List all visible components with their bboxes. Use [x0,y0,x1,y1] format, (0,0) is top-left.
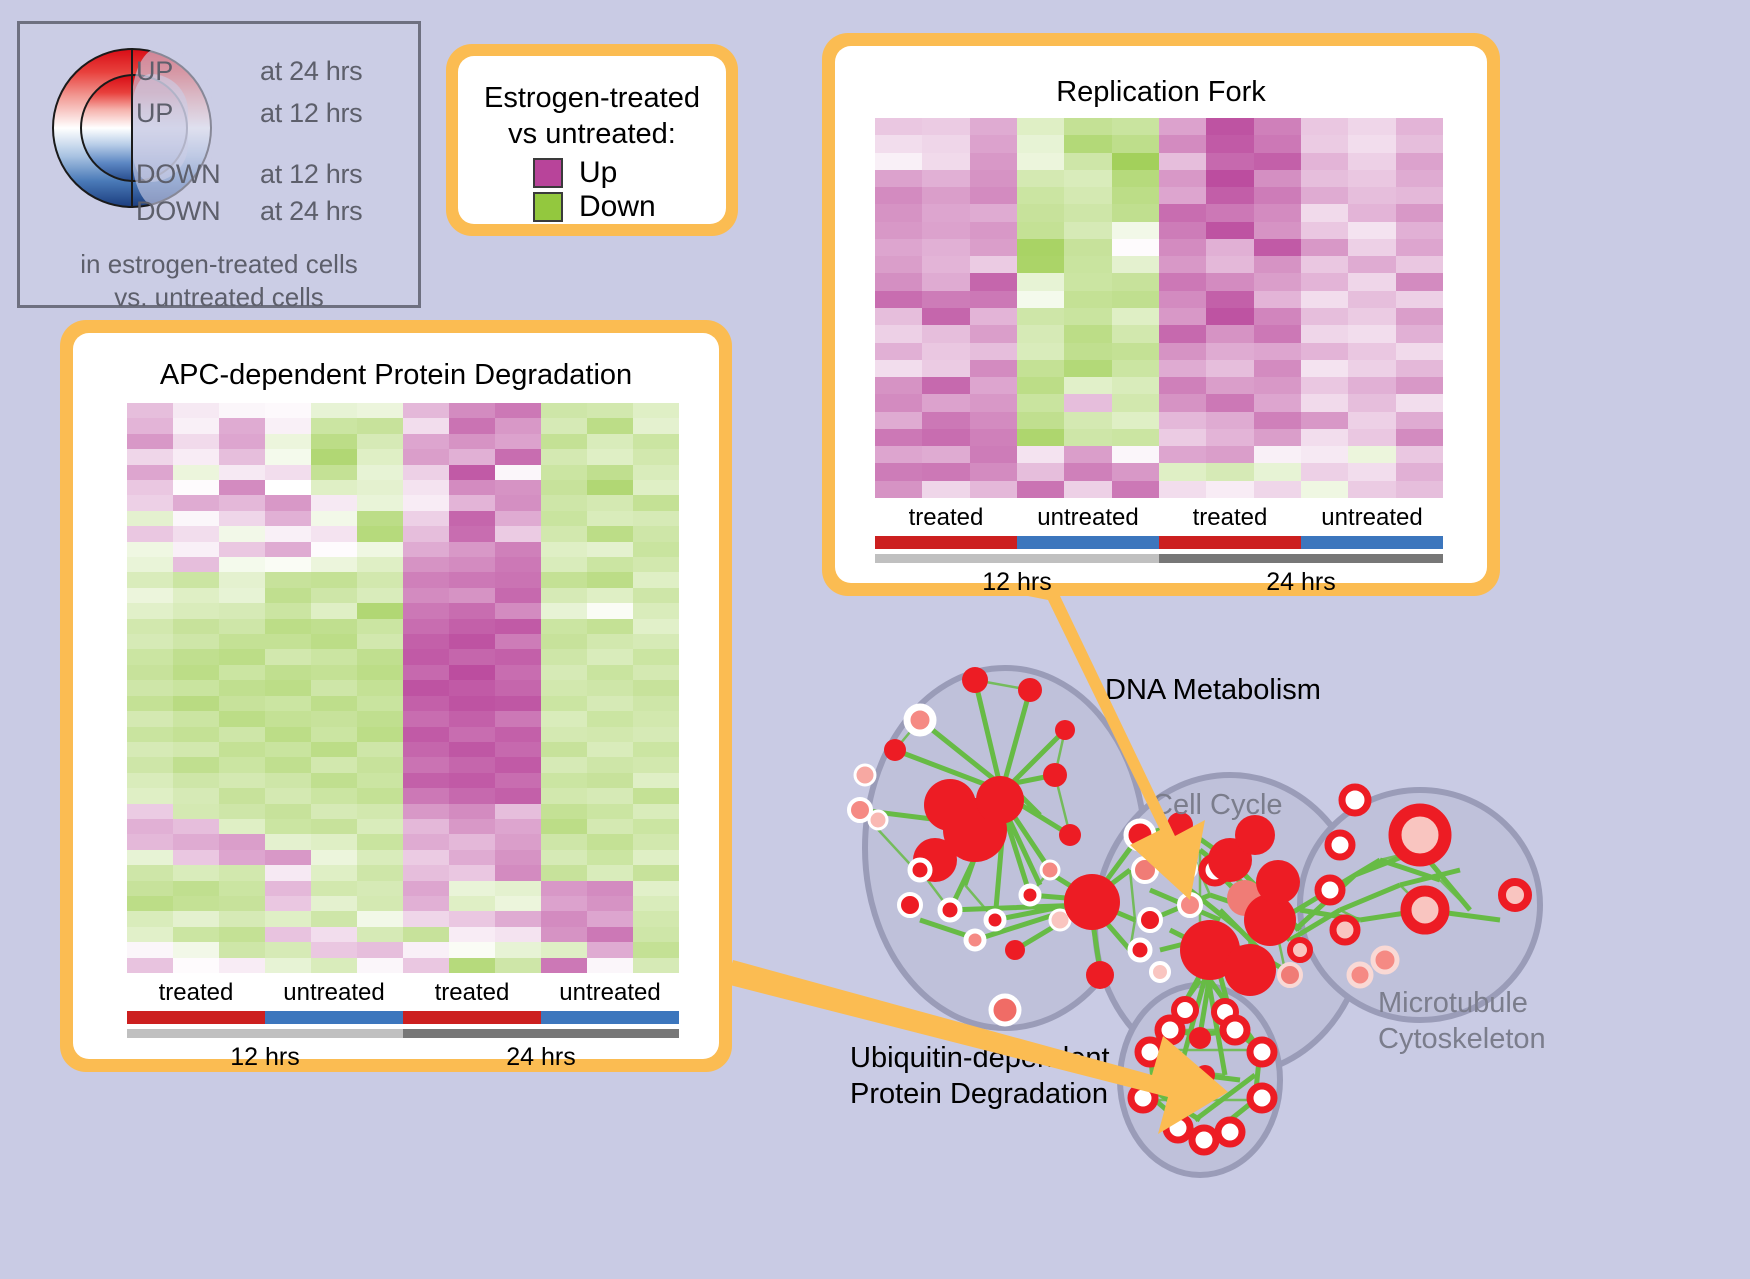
apc-time-labels: 12 hrs 24 hrs [127,1043,679,1072]
heatmap-cell [1301,429,1348,446]
heatmap-cell [1159,325,1206,342]
heatmap-cell [173,727,219,742]
heatmap-cell [1396,204,1443,221]
rf-time-12: 12 hrs [875,568,1159,597]
heatmap-cell [449,927,495,942]
heatmap-cell [633,526,679,541]
heatmap-cell [219,480,265,495]
heatmap-cell [633,958,679,973]
heatmap-cell [1301,256,1348,273]
heatmap-cell [173,588,219,603]
apc-timebar-12hrs [127,1029,403,1038]
heatmap-cell [1112,187,1159,204]
heatmap-cell [633,773,679,788]
heatmap-cell [357,680,403,695]
heatmap-cell [1254,187,1301,204]
heatmap-cell [1206,429,1253,446]
heatmap-cell [922,463,969,480]
heatmap-cell [1206,360,1253,377]
heatmap-cell [357,557,403,572]
heatmap-cell [1396,187,1443,204]
heatmap-cell [1017,429,1064,446]
heatmap-cell [587,572,633,587]
heatmap-cell [587,911,633,926]
heatmap-cell [1159,187,1206,204]
heatmap-cell [1206,135,1253,152]
heatmap-cell [265,649,311,664]
heatmap-cell [922,153,969,170]
heatmap-cell [1064,394,1111,411]
heatmap-cell [449,727,495,742]
heatmap-cell [357,588,403,603]
heatmap-cell [1159,412,1206,429]
heatmap-cell [311,526,357,541]
heatmap-cell [587,542,633,557]
heatmap-cell [219,449,265,464]
heatmap-cell [311,572,357,587]
heatmap-cell [1301,222,1348,239]
heatmap-cell [127,449,173,464]
heatmap-cell [265,511,311,526]
heatmap-cell [633,449,679,464]
heatmap-cell [1396,308,1443,325]
heatmap-cell [587,603,633,618]
heatmap-cell [1348,377,1395,394]
heatmap-cell [1112,291,1159,308]
heatmap-cell [173,603,219,618]
heatmap-cell [1112,273,1159,290]
replication-fork-title: Replication Fork [835,76,1487,109]
key-time-down-24: at 24 hrs [260,196,362,227]
heatmap-cell [922,273,969,290]
heatmap-cell [127,881,173,896]
heatmap-cell [357,757,403,772]
heatmap-cell [265,465,311,480]
heatmap-cell [449,434,495,449]
heatmap-cell [587,449,633,464]
heatmap-cell [1159,204,1206,221]
heatmap-cell [265,542,311,557]
replication-fork-heatmap [875,118,1443,498]
heatmap-cell [1017,153,1064,170]
heatmap-cell [1017,187,1064,204]
legend-title-line-1: Estrogen-treated [458,80,726,116]
apc-degradation-heatmap [127,403,679,973]
heatmap-cell [541,696,587,711]
heatmap-cell [265,680,311,695]
heatmap-cell [633,572,679,587]
heatmap-cell [219,634,265,649]
rf-bar-untreated-24 [1301,536,1443,549]
heatmap-cell [541,711,587,726]
heatmap-cell [127,773,173,788]
heatmap-cell [1254,377,1301,394]
heatmap-cell [1396,394,1443,411]
heatmap-cell [219,958,265,973]
heatmap-cell [127,588,173,603]
heatmap-cell [541,649,587,664]
heatmap-cell [127,727,173,742]
heatmap-cell [1112,429,1159,446]
key-time-down-12: at 12 hrs [260,159,362,190]
heatmap-cell [127,649,173,664]
rf-timebar-12hrs [875,554,1159,563]
heatmap-cell [449,942,495,957]
heatmap-cell [1064,187,1111,204]
heatmap-cell [1206,291,1253,308]
heatmap-cell [265,911,311,926]
heatmap-cell [1112,360,1159,377]
apc-cond-0: treated [127,979,265,1007]
heatmap-cell [541,804,587,819]
heatmap-cell [875,222,922,239]
heatmap-cell [633,480,679,495]
heatmap-cell [875,360,922,377]
heatmap-cell [1254,135,1301,152]
heatmap-cell [1064,135,1111,152]
heatmap-cell [403,434,449,449]
heatmap-cell [541,665,587,680]
heatmap-cell [1254,446,1301,463]
heatmap-cell [587,711,633,726]
heatmap-cell [311,881,357,896]
heatmap-cell [587,788,633,803]
heatmap-cell [1254,481,1301,498]
heatmap-cell [357,742,403,757]
heatmap-cell [633,804,679,819]
heatmap-cell [1017,170,1064,187]
heatmap-cell [541,449,587,464]
heatmap-cell [311,958,357,973]
heatmap-cell [127,927,173,942]
heatmap-cell [875,153,922,170]
heatmap-cell [1348,429,1395,446]
heatmap-cell [541,403,587,418]
heatmap-cell [127,403,173,418]
heatmap-cell [449,403,495,418]
heatmap-cell [219,711,265,726]
heatmap-cell [127,804,173,819]
heatmap-cell [633,495,679,510]
heatmap-cell [403,757,449,772]
heatmap-cell [127,788,173,803]
heatmap-cell [357,834,403,849]
heatmap-cell [587,649,633,664]
heatmap-cell [1254,118,1301,135]
heatmap-cell [587,804,633,819]
heatmap-cell [1064,481,1111,498]
heatmap-cell [922,308,969,325]
label-ubiquitin-line-2: Protein Degradation [850,1076,1110,1112]
apc-cond-2: treated [403,979,541,1007]
heatmap-cell [1017,377,1064,394]
heatmap-cell [219,588,265,603]
heatmap-cell [1017,446,1064,463]
heatmap-cell [1112,135,1159,152]
heatmap-cell [1112,239,1159,256]
heatmap-cell [922,377,969,394]
heatmap-cell [173,418,219,433]
heatmap-cell [1348,256,1395,273]
heatmap-cell [875,187,922,204]
heatmap-cell [1254,291,1301,308]
heatmap-cell [1017,135,1064,152]
heatmap-cell [633,865,679,880]
heatmap-cell [1159,222,1206,239]
heatmap-cell [1348,463,1395,480]
heatmap-cell [1301,291,1348,308]
heatmap-cell [173,942,219,957]
heatmap-cell [1112,222,1159,239]
heatmap-cell [173,819,219,834]
heatmap-cell [1396,325,1443,342]
heatmap-cell [449,634,495,649]
heatmap-cell [173,773,219,788]
heatmap-cell [1301,308,1348,325]
heatmap-cell [1396,412,1443,429]
heatmap-cell [265,403,311,418]
key-time-up-12: at 12 hrs [260,98,362,129]
heatmap-cell [633,603,679,618]
heatmap-cell [1301,325,1348,342]
caption-line-1: in estrogen-treated cells [20,248,418,281]
heatmap-cell [357,649,403,664]
heatmap-cell [219,911,265,926]
heatmap-cell [449,896,495,911]
heatmap-cell [1064,446,1111,463]
heatmap-cell [357,619,403,634]
heatmap-cell [633,557,679,572]
heatmap-cell [587,634,633,649]
heatmap-cell [495,881,541,896]
apc-bar-untreated-12 [265,1011,403,1024]
heatmap-cell [495,403,541,418]
heatmap-cell [541,588,587,603]
heatmap-cell [449,788,495,803]
heatmap-cell [633,850,679,865]
heatmap-cell [587,588,633,603]
heatmap-cell [449,526,495,541]
heatmap-cell [403,958,449,973]
heatmap-cell [173,634,219,649]
heatmap-cell [541,557,587,572]
apc-degradation-title: APC-dependent Protein Degradation [73,359,719,392]
heatmap-cell [403,742,449,757]
heatmap-cell [1064,360,1111,377]
heatmap-cell [265,696,311,711]
heatmap-cell [922,187,969,204]
heatmap-cell [970,446,1017,463]
heatmap-cell [587,665,633,680]
heatmap-cell [127,465,173,480]
legend-title-line-2: vs untreated: [458,116,726,152]
heatmap-cell [311,850,357,865]
heatmap-cell [265,557,311,572]
label-microtubule-cytoskeleton: Microtubule Cytoskeleton [1378,985,1546,1057]
heatmap-cell [1348,446,1395,463]
heatmap-cell [1159,256,1206,273]
heatmap-cell [1301,273,1348,290]
heatmap-cell [970,153,1017,170]
heatmap-cell [219,804,265,819]
heatmap-cell [541,742,587,757]
heatmap-cell [1159,463,1206,480]
heatmap-cell [495,495,541,510]
key-label-up-12: UP [136,98,173,129]
replication-fork-time-bar [875,554,1443,563]
heatmap-cell [127,418,173,433]
heatmap-cell [311,804,357,819]
heatmap-cell [403,804,449,819]
heatmap-cell [1301,343,1348,360]
heatmap-cell [265,449,311,464]
heatmap-cell [173,896,219,911]
heatmap-cell [541,634,587,649]
heatmap-cell [357,788,403,803]
heatmap-cell [219,619,265,634]
heatmap-cell [311,649,357,664]
heatmap-cell [403,649,449,664]
heatmap-cell [1301,412,1348,429]
heatmap-cell [1017,325,1064,342]
heatmap-cell [357,850,403,865]
heatmap-cell [265,927,311,942]
heatmap-cell [1396,291,1443,308]
heatmap-cell [541,757,587,772]
heatmap-cell [357,511,403,526]
heatmap-cell [449,958,495,973]
heatmap-cell [1206,153,1253,170]
heatmap-cell [403,680,449,695]
heatmap-cell [403,542,449,557]
heatmap-cell [922,256,969,273]
heatmap-cell [1348,153,1395,170]
heatmap-cell [1159,446,1206,463]
heatmap-cell [970,256,1017,273]
heatmap-cell [265,711,311,726]
heatmap-cell [1064,222,1111,239]
heatmap-cell [1301,463,1348,480]
heatmap-cell [127,711,173,726]
heatmap-cell [265,788,311,803]
heatmap-cell [127,495,173,510]
legend-swatch-down [533,192,563,222]
heatmap-cell [875,256,922,273]
heatmap-cell [403,881,449,896]
heatmap-cell [1254,412,1301,429]
heatmap-cell [311,896,357,911]
heatmap-cell [1206,343,1253,360]
heatmap-cell [541,603,587,618]
heatmap-cell [449,881,495,896]
heatmap-cell [587,865,633,880]
heatmap-cell [1064,153,1111,170]
heatmap-cell [265,665,311,680]
heatmap-cell [265,495,311,510]
heatmap-cell [449,649,495,664]
heatmap-cell [1348,481,1395,498]
heatmap-cell [265,804,311,819]
heatmap-cell [311,865,357,880]
heatmap-cell [311,557,357,572]
heatmap-cell [1064,412,1111,429]
heatmap-cell [495,619,541,634]
heatmap-cell [127,696,173,711]
heatmap-cell [1348,239,1395,256]
heatmap-cell [449,511,495,526]
heatmap-cell [357,958,403,973]
heatmap-cell [449,680,495,695]
heatmap-cell [311,742,357,757]
heatmap-cell [1206,463,1253,480]
heatmap-cell [1348,325,1395,342]
heatmap-cell [449,418,495,433]
heatmap-cell [219,850,265,865]
heatmap-cell [495,942,541,957]
heatmap-cell [587,619,633,634]
heatmap-cell [875,308,922,325]
heatmap-cell [1254,463,1301,480]
heatmap-cell [311,727,357,742]
heatmap-cell [541,788,587,803]
heatmap-cell [449,603,495,618]
heatmap-cell [1254,343,1301,360]
label-cell-cycle: Cell Cycle [1152,787,1283,823]
heatmap-cell [449,572,495,587]
heatmap-cell [403,465,449,480]
heatmap-cell [1159,308,1206,325]
heatmap-cell [449,542,495,557]
heatmap-cell [449,711,495,726]
heatmap-cell [127,896,173,911]
heatmap-cell [1159,360,1206,377]
heatmap-cell [633,418,679,433]
heatmap-cell [173,665,219,680]
heatmap-cell [1206,273,1253,290]
heatmap-cell [1206,222,1253,239]
apc-treatment-bar [127,1011,679,1024]
heatmap-cell [1159,273,1206,290]
heatmap-cell [357,665,403,680]
legend-label-up: Up [579,156,617,190]
heatmap-cell [219,665,265,680]
heatmap-cell [1206,256,1253,273]
heatmap-cell [922,170,969,187]
heatmap-cell [922,118,969,135]
apc-condition-labels: treated untreated treated untreated [127,979,679,1007]
heatmap-cell [541,434,587,449]
heatmap-cell [357,927,403,942]
heatmap-cell [495,665,541,680]
heatmap-cell [922,222,969,239]
heatmap-cell [541,526,587,541]
heatmap-cell [495,434,541,449]
heatmap-cell [1254,153,1301,170]
heatmap-cell [403,834,449,849]
heatmap-cell [1159,343,1206,360]
heatmap-cell [1301,170,1348,187]
heatmap-cell [127,619,173,634]
heatmap-cell [875,239,922,256]
heatmap-cell [357,727,403,742]
heatmap-cell [403,449,449,464]
heatmap-cell [449,773,495,788]
heatmap-cell [219,511,265,526]
heatmap-cell [173,958,219,973]
heatmap-cell [173,480,219,495]
heatmap-cell [587,742,633,757]
legend-item-down: Down [533,190,656,224]
